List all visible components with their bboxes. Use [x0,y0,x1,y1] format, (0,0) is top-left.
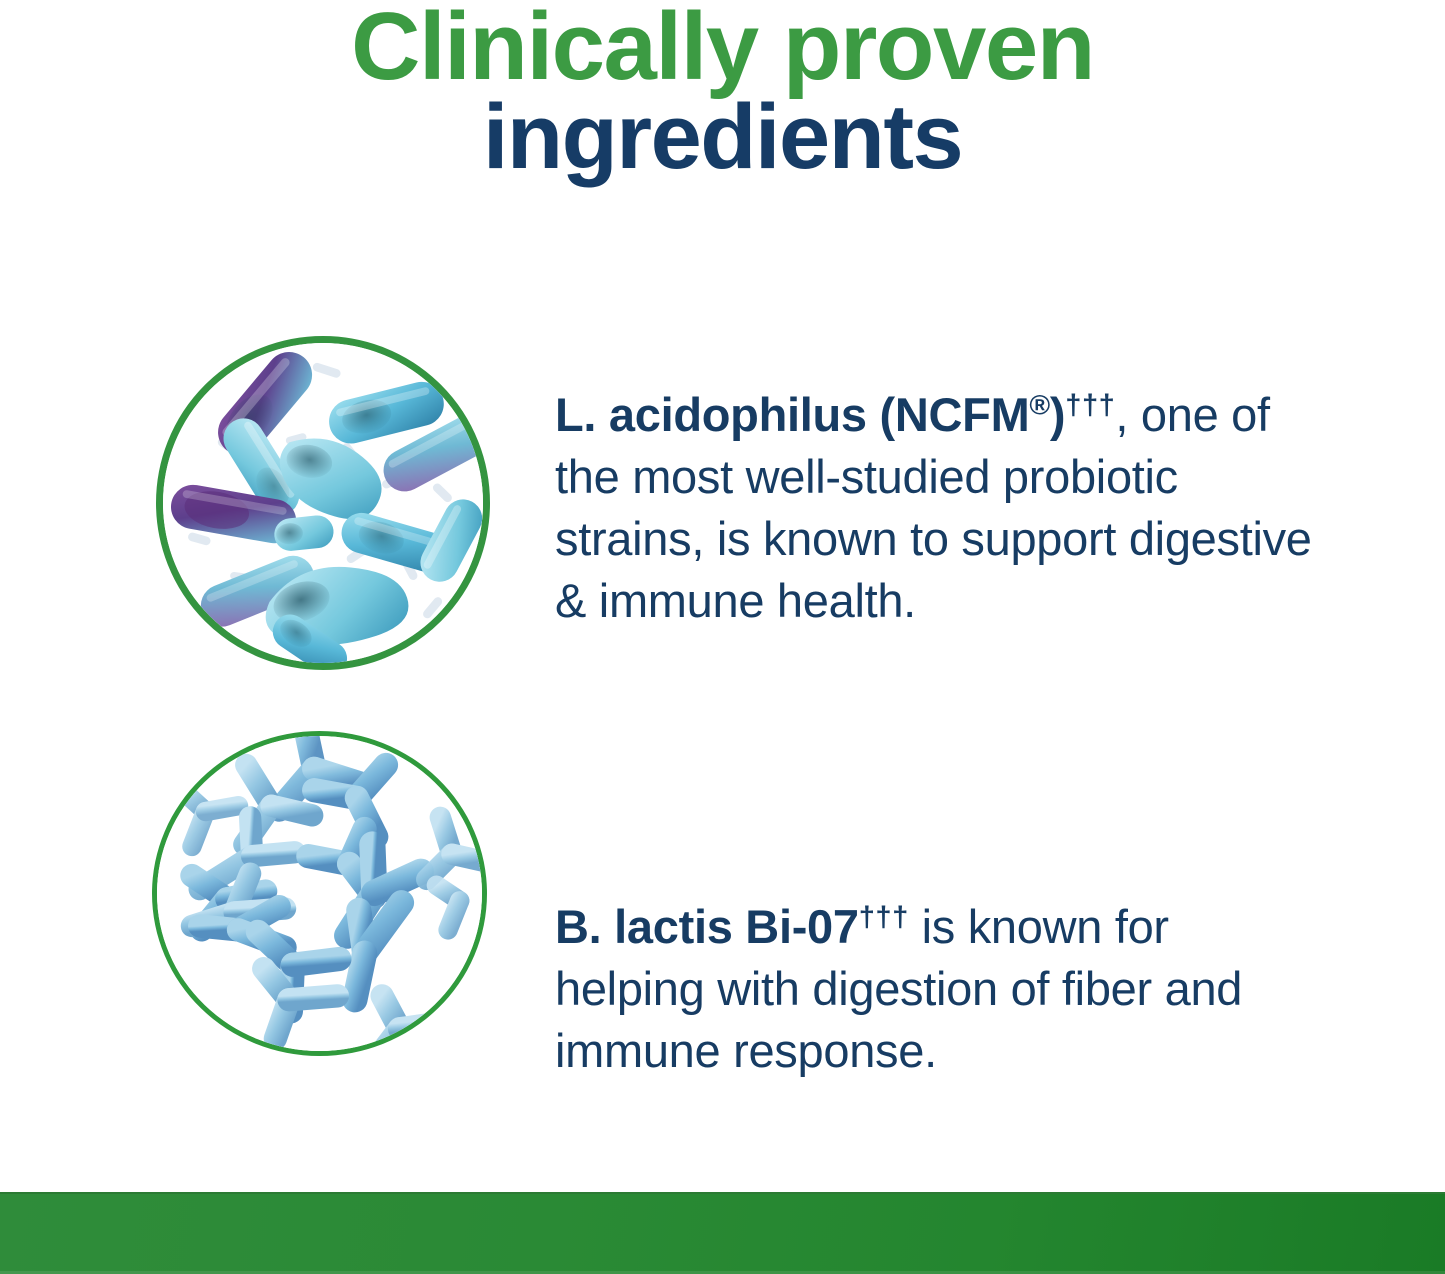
page-title-line-2: ingredients [0,95,1445,181]
bifidobacteria-illustration [157,736,482,1051]
ingredient-image-wrap-lactis [0,708,487,1056]
ingredient-description-acidophilus: L. acidophilus (NCFM®)†††, one of the mo… [555,384,1315,632]
rod-shaped-bacteria-microscopy-icon [156,336,490,670]
dagger-footnote-marker-acidophilus: ††† [1065,389,1115,421]
registered-trademark-icon: ® [1029,388,1049,420]
strain-name-lactis: B. lactis Bi-07 [555,900,859,953]
green-footer-bar [0,1192,1445,1274]
ingredient-item-acidophilus: L. acidophilus (NCFM®)†††, one of the mo… [0,300,1445,708]
dagger-footnote-marker-lactis: ††† [859,901,909,933]
strain-name-acidophilus: L. acidophilus (NCFM [555,388,1029,441]
ingredients-list: L. acidophilus (NCFM®)†††, one of the mo… [0,300,1445,1038]
page-title: Clinically proven ingredients [0,0,1445,181]
ingredient-image-wrap-acidophilus [0,300,490,670]
y-shaped-bifidobacteria-microscopy-icon [152,731,487,1056]
ingredient-item-lactis: B. lactis Bi-07††† is known for helping … [0,708,1445,1038]
page-title-line-1: Clinically proven [0,2,1445,91]
rod-bacteria-illustration [163,343,483,663]
strain-name-acidophilus-close: ) [1050,388,1065,441]
ingredient-description-lactis: B. lactis Bi-07††† is known for helping … [555,896,1255,1082]
